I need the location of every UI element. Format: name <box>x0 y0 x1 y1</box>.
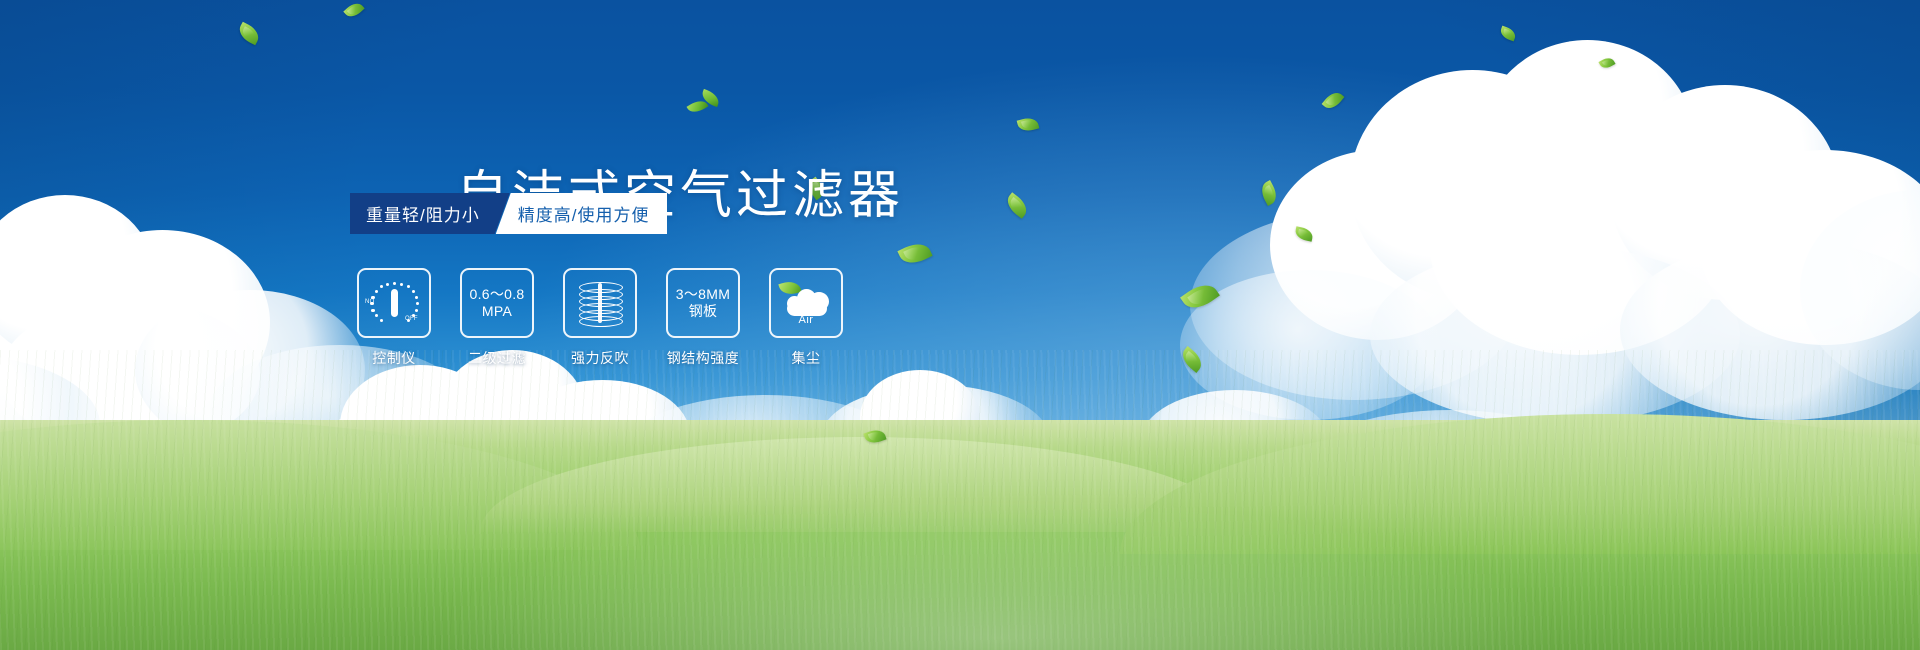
badge-precision-convenience[interactable]: 精度高/使用方便 <box>496 193 668 234</box>
dial-label-on: NO <box>365 299 375 305</box>
steel-plate-text-icon: 3〜8MM 钢板 <box>676 286 730 320</box>
feature-icon-box: NO OFF <box>357 268 431 338</box>
feature-label: 强力反吹 <box>571 348 629 368</box>
badge-group: 重量轻/阻力小 精度高/使用方便 <box>350 193 667 234</box>
cloud-air-icon: Air <box>781 283 831 323</box>
feature-label: 二级过滤 <box>468 348 526 368</box>
feature-item[interactable]: Air 集尘 <box>767 268 845 368</box>
feature-label: 控制仪 <box>372 348 416 368</box>
pressure-line-1: 0.6〜0.8 <box>469 286 524 303</box>
pressure-line-2: MPA <box>469 303 524 320</box>
steel-line-1: 3〜8MM <box>676 286 730 303</box>
dial-needle <box>391 289 398 317</box>
feature-icon-box <box>563 268 637 338</box>
feature-item[interactable]: 0.6〜0.8 MPA 二级过滤 <box>458 268 536 368</box>
cloud-air-label: Air <box>781 314 831 326</box>
steel-line-2: 钢板 <box>676 303 730 320</box>
feature-item[interactable]: NO OFF 控制仪 <box>355 268 433 368</box>
dial-label-off: OFF <box>405 316 418 322</box>
feature-label: 钢结构强度 <box>667 348 740 368</box>
gauge-dial-icon: NO OFF <box>370 280 418 326</box>
banner-content: 自洁式空气过滤器 重量轻/阻力小 精度高/使用方便 <box>0 0 1920 650</box>
feature-item[interactable]: 强力反吹 <box>561 268 639 368</box>
feature-icon-box: 3〜8MM 钢板 <box>666 268 740 338</box>
feature-list: NO OFF 控制仪 0.6〜0.8 MPA 二级过滤 <box>355 268 845 368</box>
badge-weight-resistance[interactable]: 重量轻/阻力小 <box>350 193 510 234</box>
feature-icon-box: Air <box>769 268 843 338</box>
title-leaf-icon <box>688 92 722 118</box>
coil-spring-icon <box>579 281 621 325</box>
feature-icon-box: 0.6〜0.8 MPA <box>460 268 534 338</box>
feature-item[interactable]: 3〜8MM 钢板 钢结构强度 <box>664 268 742 368</box>
pressure-text-icon: 0.6〜0.8 MPA <box>469 286 524 320</box>
hero-banner: 自洁式空气过滤器 重量轻/阻力小 精度高/使用方便 <box>0 0 1920 650</box>
feature-label: 集尘 <box>792 348 821 368</box>
